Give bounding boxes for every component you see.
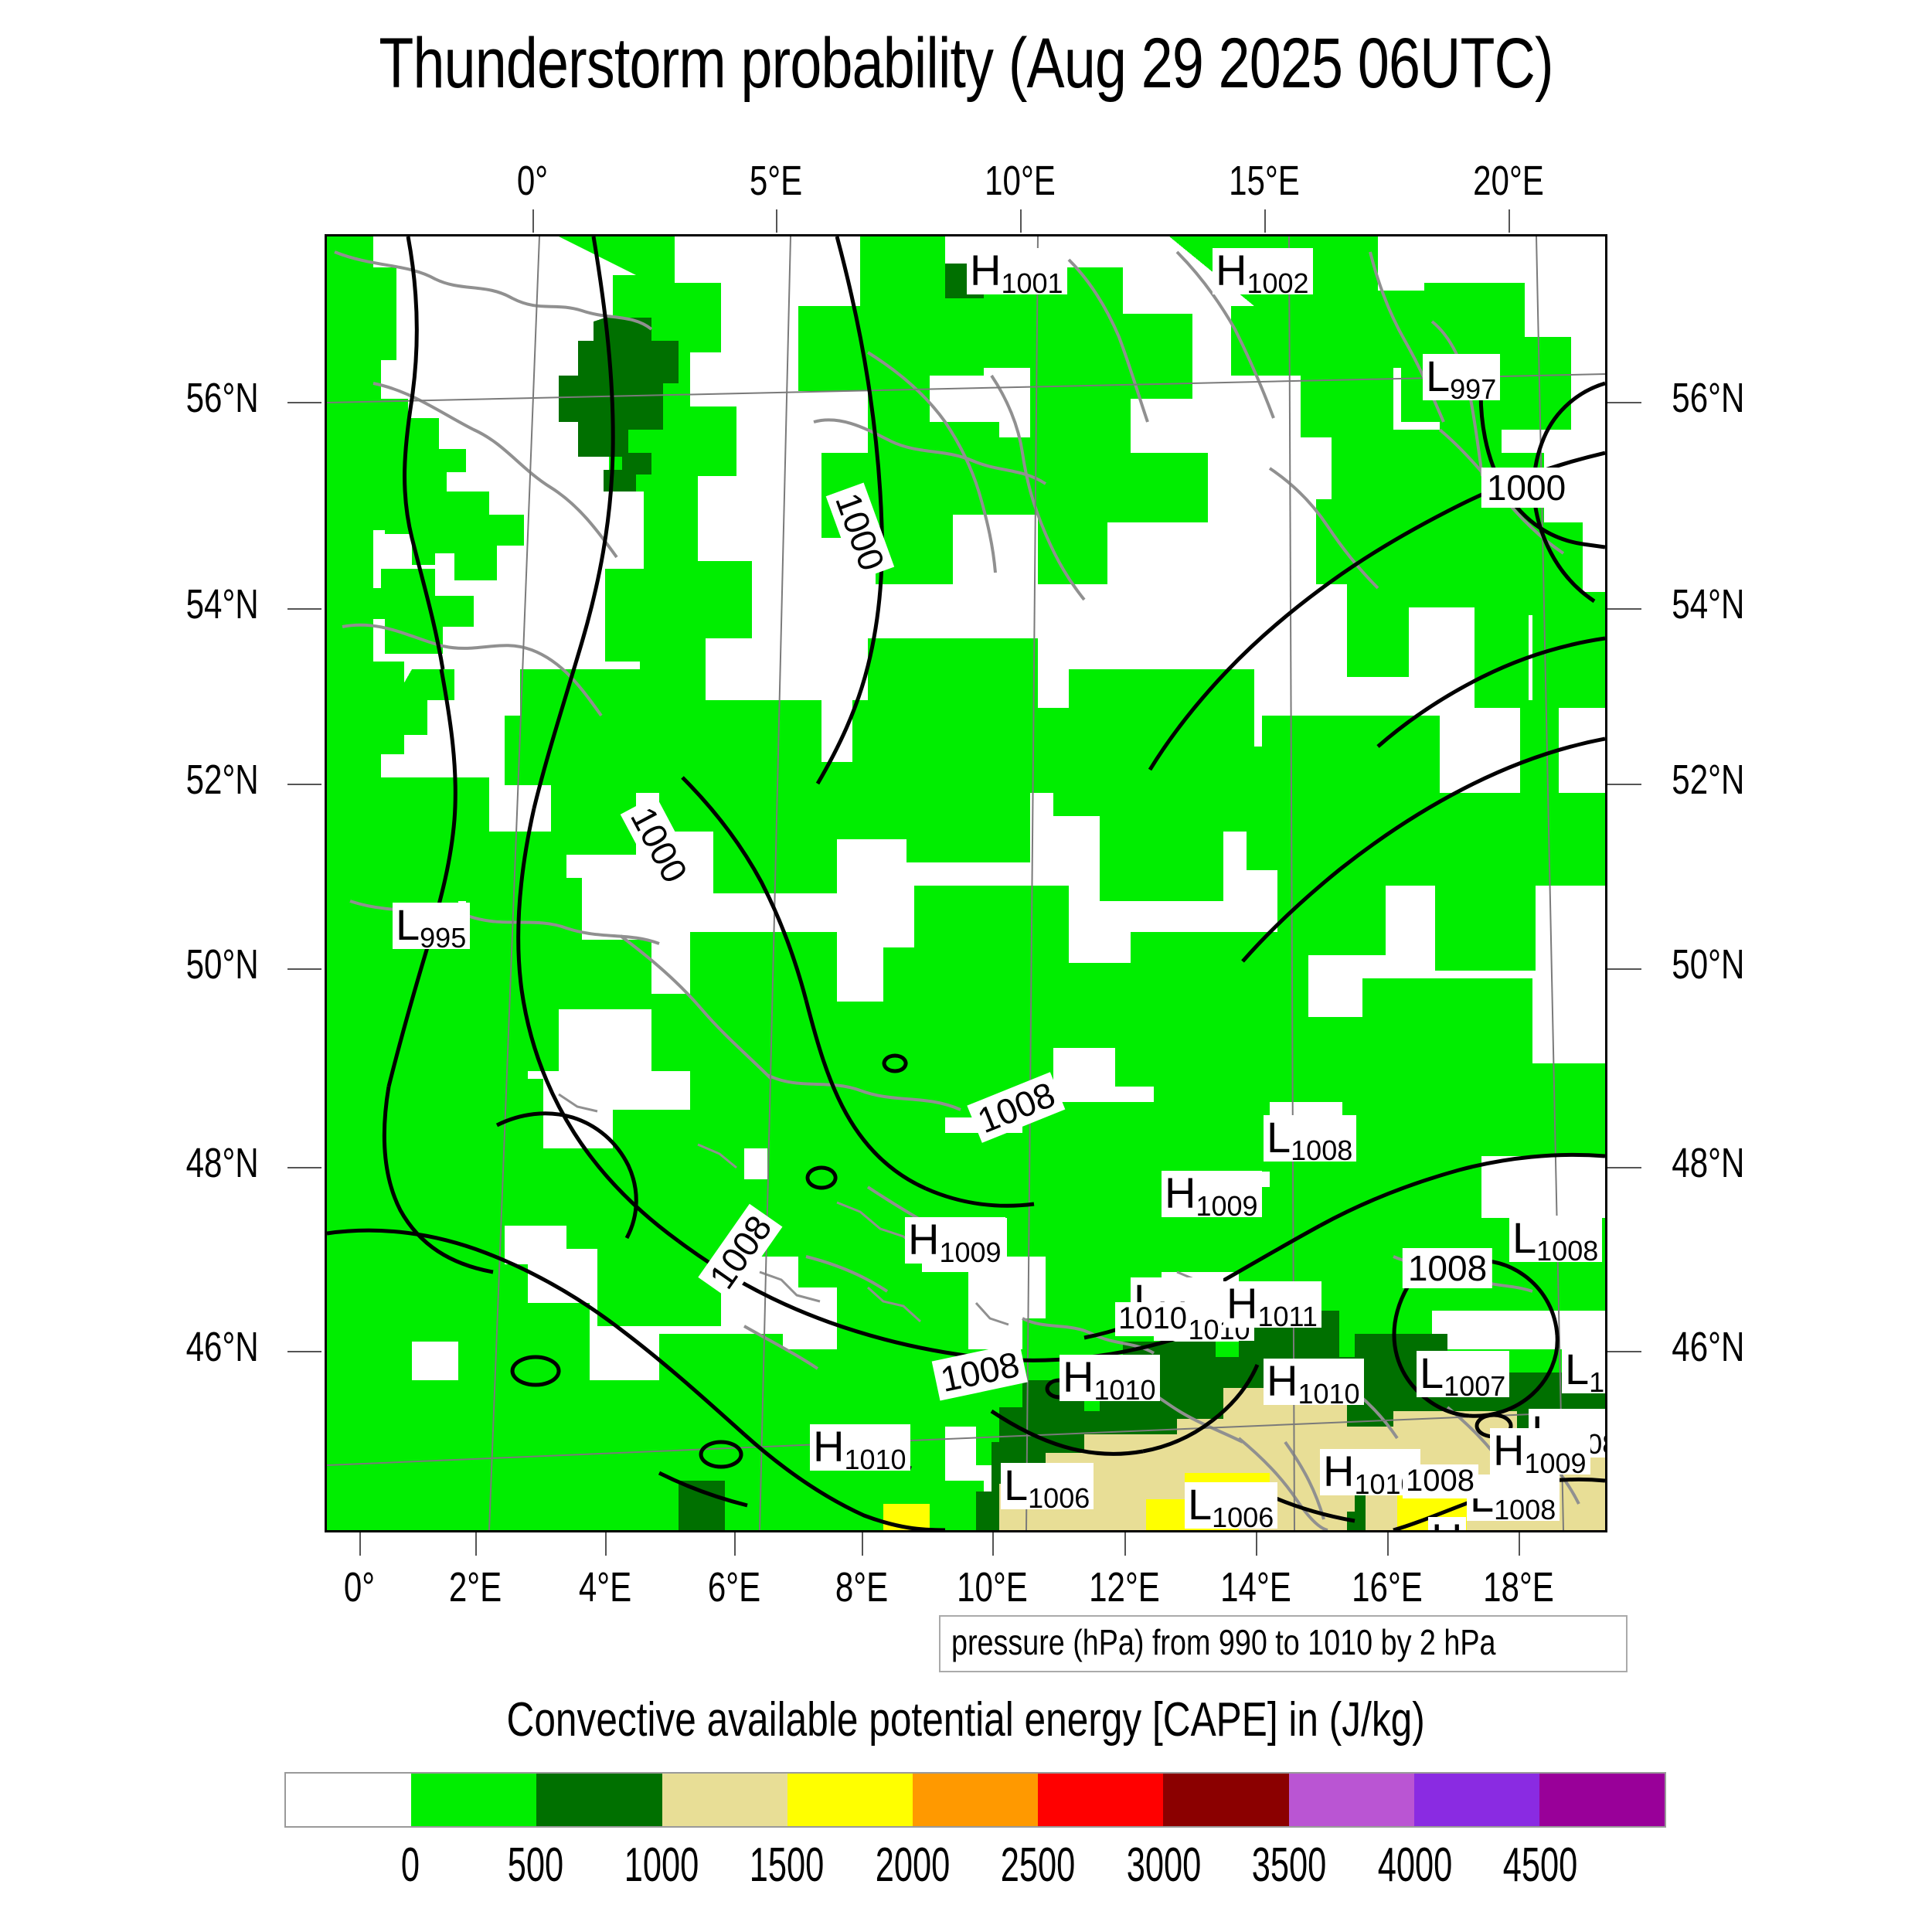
colorbar-tick-500: 500 [487,1838,584,1893]
pressure-center-high-22: H [1428,1517,1466,1532]
axis-label-right-46°N: 46°N [1672,1323,1810,1371]
colorbar-tick-4000: 4000 [1366,1838,1464,1893]
pressure-center-type: H [1493,1426,1524,1475]
axis-label-bottom-12°E: 12°E [1064,1563,1185,1611]
pressure-center-type: H [1216,246,1247,294]
axis-label-left-56°N: 56°N [120,374,258,422]
pressure-center-high-12: H1010 [1264,1359,1364,1405]
pressure-center-value: 1006 [1028,1482,1090,1514]
axis-tick-bottom-0 [359,1532,361,1556]
pressure-center-high-1: H1002 [1213,248,1313,294]
pressure-center-type: L [1188,1480,1212,1529]
contour-label-1000-2: 1000 [1481,468,1571,508]
pressure-center-high-13: H1010 [1060,1355,1160,1401]
pressure-center-value: 1002 [1247,267,1308,299]
colorbar-segment-7[interactable] [1163,1774,1288,1826]
axis-label-top-20°E: 20°E [1454,157,1563,205]
axis-label-left-48°N: 48°N [120,1139,258,1187]
axis-tick-left-3 [287,968,321,970]
map-panel: H1001H1002L997L995L1008H1009H1009L1008L1… [325,234,1607,1532]
pressure-center-type: H [970,246,1001,294]
page-title: Thunderstorm probability (Aug 29 2025 06… [193,23,1739,104]
colorbar-segment-4[interactable] [787,1774,913,1826]
pressure-center-type: L [1565,1345,1589,1393]
colorbar-tick-1000: 1000 [613,1838,710,1893]
axis-label-bottom-16°E: 16°E [1327,1563,1447,1611]
pressure-center-high-16: H1009 [1490,1428,1590,1475]
pressure-center-low-21: L1006 [1185,1482,1277,1529]
axis-tick-bottom-9 [1519,1532,1520,1556]
axis-tick-right-2 [1607,784,1641,785]
pressure-center-high-10: H1011 [1223,1281,1321,1328]
axis-tick-bottom-7 [1256,1532,1257,1556]
pressure-center-type: L [1420,1349,1444,1397]
axis-label-top-15°E: 15°E [1210,157,1318,205]
axis-tick-bottom-1 [475,1532,477,1556]
pressure-center-type: H [1165,1168,1196,1217]
pressure-center-type: L [396,900,420,949]
pressure-center-value: 1011 [1257,1301,1317,1332]
axis-label-right-50°N: 50°N [1672,940,1810,988]
axis-label-bottom-2°E: 2°E [415,1563,536,1611]
pressure-center-low-3: L995 [393,903,470,949]
colorbar-title-text: Convective available potential energy [C… [507,1692,1425,1747]
axis-tick-left-1 [287,608,321,610]
axis-label-bottom-0°: 0° [299,1563,420,1611]
axis-label-left-46°N: 46°N [120,1323,258,1371]
axis-label-right-48°N: 48°N [1672,1139,1810,1187]
pressure-center-value: 1009 [939,1236,1001,1268]
colorbar-tick-3000: 3000 [1115,1838,1213,1893]
axis-tick-left-5 [287,1351,321,1352]
colorbar-segment-5[interactable] [913,1774,1038,1826]
pressure-center-plain-0: 1008 [1403,1464,1478,1498]
axis-tick-bottom-5 [992,1532,994,1556]
axis-label-bottom-10°E: 10°E [932,1563,1053,1611]
axis-label-bottom-8°E: 8°E [801,1563,922,1611]
map-frame: H1001H1002L997L995L1008H1009H1009L1008L1… [325,234,1607,1532]
axis-tick-bottom-2 [605,1532,607,1556]
pressure-center-type: L [1004,1461,1028,1509]
colorbar-segment-3[interactable] [662,1774,787,1826]
pressure-center-low-4: L1008 [1264,1115,1356,1162]
colorbar-tick-3500: 3500 [1240,1838,1338,1893]
axis-tick-right-3 [1607,968,1641,970]
axis-tick-left-4 [287,1167,321,1168]
axis-label-bottom-18°E: 18°E [1458,1563,1579,1611]
pressure-center-type: H [1063,1352,1094,1401]
axis-tick-left-0 [287,402,321,403]
pressure-center-value: 100 [1589,1366,1607,1398]
pressure-center-value: 1009 [1196,1190,1257,1222]
colorbar-tick-1500: 1500 [738,1838,835,1893]
pressure-center-value: 1010 [844,1444,906,1475]
axis-tick-right-4 [1607,1167,1641,1168]
axis-label-top-5°E: 5°E [722,157,830,205]
axis-tick-bottom-8 [1387,1532,1389,1556]
pressure-center-value: 1008 [1536,1235,1598,1267]
pressure-center-type: H [1226,1279,1257,1328]
pressure-center-low-2: L997 [1423,354,1500,400]
colorbar-segment-8[interactable] [1289,1774,1414,1826]
pressure-center-low-7: L1008 [1509,1216,1602,1262]
colorbar-segment-9[interactable] [1414,1774,1539,1826]
axis-tick-top-1 [776,209,777,233]
axis-tick-bottom-3 [734,1532,736,1556]
pressure-center-high-0: H1001 [967,248,1067,294]
colorbar-tick-4500: 4500 [1492,1838,1589,1893]
axis-label-bottom-6°E: 6°E [674,1563,794,1611]
axis-label-right-56°N: 56°N [1672,374,1810,422]
axis-label-bottom-4°E: 4°E [545,1563,665,1611]
pressure-caption-text: pressure (hPa) from 990 to 1010 by 2 hPa [951,1621,1496,1663]
pressure-center-value: 997 [1450,373,1496,405]
pressure-center-value: 1008 [1494,1494,1556,1526]
colorbar-tick-2500: 2500 [989,1838,1087,1893]
pressure-center-type: L [1512,1213,1536,1262]
axis-label-top-0°: 0° [478,157,587,205]
axis-label-left-50°N: 50°N [120,940,258,988]
colorbar-title: Convective available potential energy [C… [0,1692,1932,1747]
pressure-center-type: H [1267,1356,1298,1405]
pressure-center-low-20: L1006 [1001,1463,1094,1509]
pressure-center-value: 995 [420,922,466,954]
axis-tick-top-2 [1020,209,1022,233]
pressure-center-type: L [1426,352,1450,400]
pressure-center-type: L [1267,1113,1291,1162]
colorbar-segment-6[interactable] [1038,1774,1163,1826]
pressure-center-type: H [1431,1515,1462,1532]
colorbar-segment-0[interactable] [286,1774,411,1826]
colorbar-segment-1[interactable] [411,1774,536,1826]
pressure-center-high-17: H1010 [810,1424,910,1471]
pressure-center-high-5: H1009 [1162,1171,1262,1217]
pressure-center-type: H [813,1422,844,1471]
axis-tick-right-5 [1607,1351,1641,1352]
axis-tick-top-4 [1509,209,1510,233]
axis-label-right-54°N: 54°N [1672,580,1810,628]
axis-tick-top-3 [1264,209,1266,233]
axis-label-right-52°N: 52°N [1672,756,1810,804]
colorbar-segment-2[interactable] [536,1774,662,1826]
axis-tick-right-0 [1607,402,1641,403]
pressure-center-value: 1007 [1444,1370,1505,1402]
axis-tick-left-2 [287,784,321,785]
pressure-center-type: H [908,1215,939,1264]
axis-tick-bottom-6 [1124,1532,1126,1556]
colorbar-labels: 050010001500200025003000350040004500 [284,1838,1666,1900]
pressure-center-plain-1: 1010 [1115,1302,1191,1336]
pressure-center-low-19: L1008 [1467,1475,1560,1521]
cape-field-map [327,236,1605,1530]
colorbar-tick-2000: 2000 [864,1838,961,1893]
axis-tick-top-0 [532,209,534,233]
colorbar-segment-10[interactable] [1539,1774,1665,1826]
axis-tick-right-1 [1607,608,1641,610]
pressure-caption-box: pressure (hPa) from 990 to 1010 by 2 hPa [939,1615,1628,1672]
axis-label-top-10°E: 10°E [966,157,1074,205]
pressure-center-value: 1001 [1001,267,1063,299]
pressure-center-low-14: L100 [1562,1347,1607,1393]
pressure-center-low-11: L1007 [1417,1351,1509,1397]
pressure-center-value: 1006 [1212,1502,1274,1532]
axis-label-left-52°N: 52°N [120,756,258,804]
axis-tick-bottom-4 [862,1532,863,1556]
colorbar[interactable] [284,1772,1666,1828]
contour-label-1008-6: 1008 [1403,1248,1492,1288]
axis-label-bottom-14°E: 14°E [1196,1563,1316,1611]
pressure-center-value: 1008 [1291,1134,1352,1166]
pressure-center-value: 1010 [1298,1378,1359,1410]
pressure-center-type: H [1323,1447,1354,1495]
colorbar-tick-0: 0 [362,1838,459,1893]
pressure-center-value: 1010 [1094,1374,1155,1406]
axis-label-left-54°N: 54°N [120,580,258,628]
pressure-center-high-6: H1009 [905,1217,1005,1264]
